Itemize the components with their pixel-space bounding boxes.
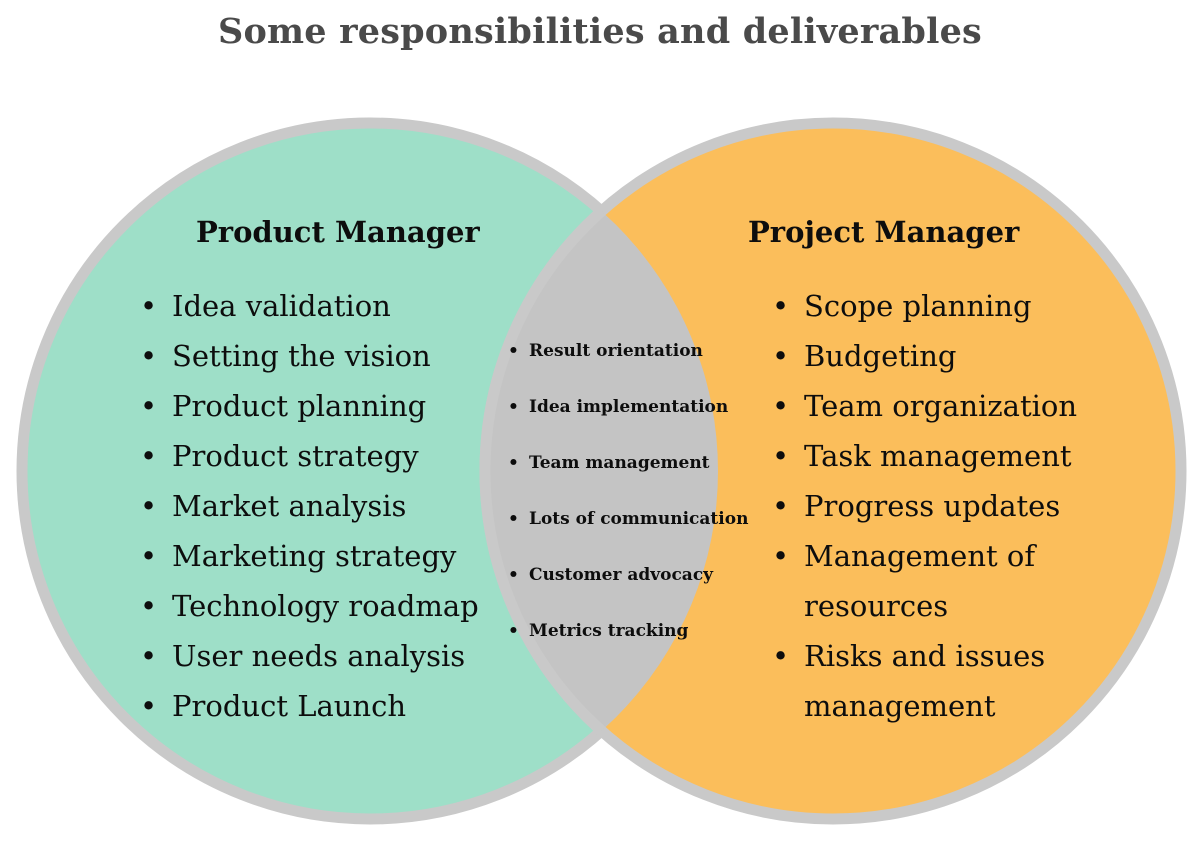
bullet-icon: • [772, 531, 789, 581]
bullet-icon: • [508, 491, 519, 547]
list-item-label: Risks and issues management [804, 631, 1102, 731]
list-item-label: Task management [804, 431, 1102, 481]
list-item: • Team organization [772, 381, 1102, 431]
venn-diagram: Some responsibilities and deliverables P… [0, 0, 1200, 866]
bullet-icon: • [508, 323, 519, 379]
list-item: • Customer advocacy [508, 547, 734, 603]
bullet-icon: • [772, 431, 789, 481]
bullet-icon: • [508, 547, 519, 603]
bullet-icon: • [772, 331, 789, 381]
list-item-label: Progress updates [804, 481, 1102, 531]
list-item-label: Team management [529, 435, 734, 491]
list-item-label: Team organization [804, 381, 1102, 431]
bullet-icon: • [140, 331, 157, 381]
bullet-icon: • [772, 281, 789, 331]
left-circle-heading: Product Manager [196, 215, 480, 249]
bullet-icon: • [140, 281, 157, 331]
list-item: • Scope planning [772, 281, 1102, 331]
bullet-icon: • [140, 531, 157, 581]
list-item-label: Scope planning [804, 281, 1102, 331]
list-item-label: Budgeting [804, 331, 1102, 381]
bullet-icon: • [140, 381, 157, 431]
list-item-label: Management of resources [804, 531, 1102, 631]
list-item: • Product planning [140, 381, 500, 431]
list-item-label: Setting the vision [172, 331, 500, 381]
list-item-label: Technology roadmap [172, 581, 500, 631]
list-item-label: Marketing strategy [172, 531, 500, 581]
list-item-label: Customer advocacy [529, 547, 734, 603]
bullet-icon: • [140, 431, 157, 481]
bullet-icon: • [508, 435, 519, 491]
list-item-label: Product planning [172, 381, 500, 431]
list-item-label: Idea implementation [529, 379, 734, 435]
bullet-icon: • [508, 379, 519, 435]
bullet-icon: • [508, 603, 519, 659]
list-item: • Idea implementation [508, 379, 734, 435]
page-title: Some responsibilities and deliverables [0, 11, 1200, 53]
list-item: • Lots of communication [508, 491, 734, 547]
bullet-icon: • [772, 631, 789, 681]
bullet-icon: • [140, 481, 157, 531]
list-item: • Result orientation [508, 323, 734, 379]
list-item: • Progress updates [772, 481, 1102, 531]
list-item: • Budgeting [772, 331, 1102, 381]
list-item: • Product Launch [140, 681, 500, 731]
bullet-icon: • [772, 481, 789, 531]
list-item: • Product strategy [140, 431, 500, 481]
right-circle-heading: Project Manager [748, 215, 1019, 249]
list-item: • Management of resources [772, 531, 1102, 631]
list-item: • Task management [772, 431, 1102, 481]
list-item-label: Market analysis [172, 481, 500, 531]
bullet-icon: • [140, 631, 157, 681]
bullet-icon: • [772, 381, 789, 431]
bullet-icon: • [140, 581, 157, 631]
list-item: • Technology roadmap [140, 581, 500, 631]
list-item: • Metrics tracking [508, 603, 734, 659]
list-item-label: Product strategy [172, 431, 500, 481]
list-item: • Market analysis [140, 481, 500, 531]
list-item: • Setting the vision [140, 331, 500, 381]
right-circle-list: • Scope planning • Budgeting • Team orga… [772, 281, 1102, 731]
bullet-icon: • [140, 681, 157, 731]
list-item: • Idea validation [140, 281, 500, 331]
list-item-label: Metrics tracking [529, 603, 734, 659]
list-item-label: Lots of communication [529, 491, 734, 547]
overlap-list: • Result orientation • Idea implementati… [508, 323, 734, 659]
list-item-label: User needs analysis [172, 631, 500, 681]
list-item-label: Result orientation [529, 323, 734, 379]
list-item: • Marketing strategy [140, 531, 500, 581]
list-item: • Risks and issues management [772, 631, 1102, 731]
list-item: • User needs analysis [140, 631, 500, 681]
left-circle-list: • Idea validation • Setting the vision •… [140, 281, 500, 731]
list-item: • Team management [508, 435, 734, 491]
list-item-label: Product Launch [172, 681, 500, 731]
list-item-label: Idea validation [172, 281, 500, 331]
